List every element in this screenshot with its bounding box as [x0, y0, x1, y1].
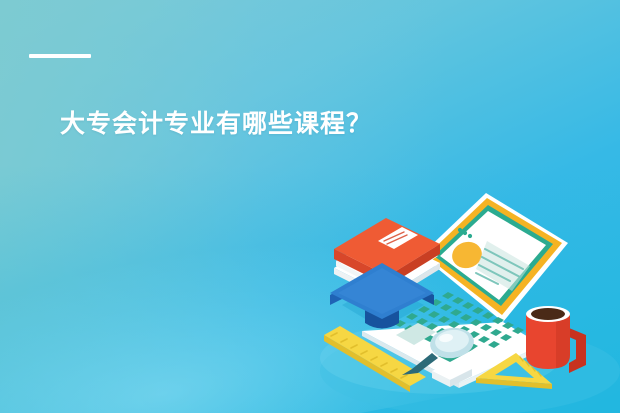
page-title: 大专会计专业有哪些课程？: [60, 107, 372, 141]
mug-body-shade: [556, 313, 570, 368]
coffee-mug-icon: [526, 306, 586, 373]
mug-coffee: [531, 308, 565, 320]
study-desk-illustration: [320, 183, 620, 413]
screen-dot-2: [463, 231, 467, 235]
screen-dot-1: [458, 228, 462, 232]
cover-canvas: 大专会计专业有哪些课程？: [0, 0, 620, 413]
screen-dot-3: [468, 234, 472, 238]
accent-rule: [29, 54, 91, 58]
